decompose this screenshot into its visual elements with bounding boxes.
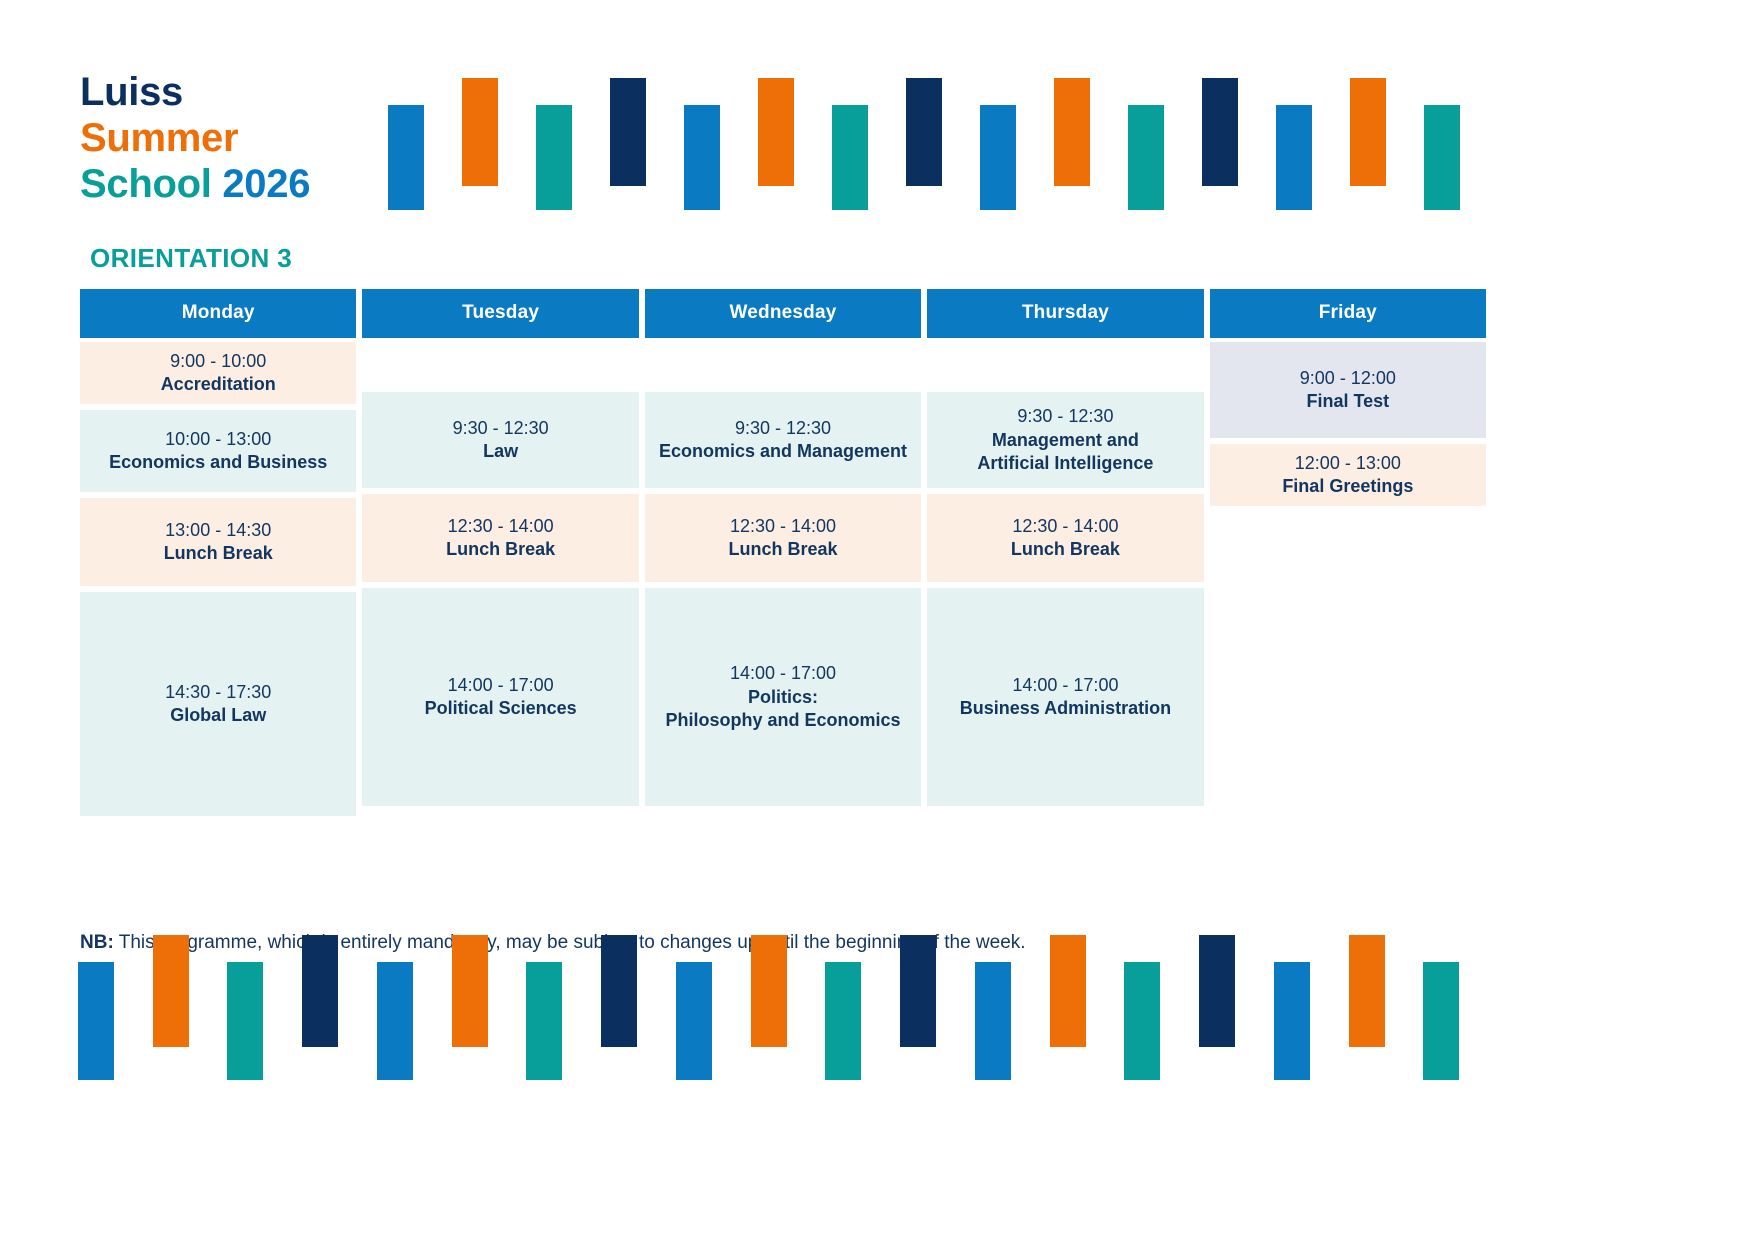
timetable-slot[interactable]: 14:00 - 17:00Political Sciences bbox=[362, 588, 638, 806]
decorative-bar bbox=[1050, 935, 1086, 1047]
day-header-thursday[interactable]: Thursday bbox=[927, 289, 1203, 338]
slot-title: Final Test bbox=[1306, 390, 1389, 413]
decorative-bar bbox=[388, 105, 424, 210]
decorative-bar bbox=[684, 105, 720, 210]
title-line-summer: Summer bbox=[80, 118, 310, 158]
timetable-slot[interactable]: 12:00 - 13:00Final Greetings bbox=[1210, 444, 1486, 506]
title-line-luiss: Luiss bbox=[80, 72, 310, 112]
slot-time: 14:00 - 17:00 bbox=[730, 661, 836, 685]
decorative-bar bbox=[601, 935, 637, 1047]
day-header-monday[interactable]: Monday bbox=[80, 289, 356, 338]
column-top-spacer bbox=[645, 342, 921, 386]
decorative-bar bbox=[1202, 78, 1238, 186]
decorative-bar bbox=[1274, 962, 1310, 1080]
slot-time: 9:30 - 12:30 bbox=[735, 416, 831, 440]
decorative-bar bbox=[153, 935, 189, 1047]
day-slots-friday: 9:00 - 12:00Final Test12:00 - 13:00Final… bbox=[1210, 342, 1486, 506]
day-column-wednesday: Wednesday9:30 - 12:30Economics and Manag… bbox=[645, 289, 921, 816]
decorative-bar bbox=[832, 105, 868, 210]
slot-title: Economics and Business bbox=[109, 451, 327, 474]
decorative-bar bbox=[1128, 105, 1164, 210]
timetable: Monday9:00 - 10:00Accreditation10:00 - 1… bbox=[80, 289, 1486, 816]
timetable-slot[interactable]: 9:30 - 12:30Law bbox=[362, 392, 638, 488]
day-column-monday: Monday9:00 - 10:00Accreditation10:00 - 1… bbox=[80, 289, 356, 816]
timetable-slot[interactable]: 14:00 - 17:00Business Administration bbox=[927, 588, 1203, 806]
day-slots-thursday: 9:30 - 12:30Management andArtificial Int… bbox=[927, 342, 1203, 806]
day-slots-monday: 9:00 - 10:00Accreditation10:00 - 13:00Ec… bbox=[80, 342, 356, 816]
decorative-bar bbox=[1350, 78, 1386, 186]
timetable-slot[interactable]: 9:30 - 12:30Management andArtificial Int… bbox=[927, 392, 1203, 488]
bottom-decorative-bars bbox=[78, 915, 1498, 1080]
slot-title: Political Sciences bbox=[425, 697, 577, 720]
day-header-tuesday[interactable]: Tuesday bbox=[362, 289, 638, 338]
slot-title-line2: Artificial Intelligence bbox=[977, 452, 1153, 475]
day-column-tuesday: Tuesday9:30 - 12:30Law12:30 - 14:00Lunch… bbox=[362, 289, 638, 816]
decorative-bar bbox=[227, 962, 263, 1080]
decorative-bar bbox=[302, 935, 338, 1047]
decorative-bar bbox=[906, 78, 942, 186]
timetable-slot[interactable]: 9:30 - 12:30Economics and Management bbox=[645, 392, 921, 488]
slot-title: Global Law bbox=[170, 704, 266, 727]
slot-time: 13:00 - 14:30 bbox=[165, 518, 271, 542]
timetable-slot[interactable]: 14:00 - 17:00Politics:Philosophy and Eco… bbox=[645, 588, 921, 806]
slot-time: 12:30 - 14:00 bbox=[1012, 514, 1118, 538]
slot-time: 12:30 - 14:00 bbox=[448, 514, 554, 538]
title-word-year: 2026 bbox=[222, 162, 310, 206]
page-title: Luiss Summer School 2026 bbox=[80, 72, 310, 210]
decorative-bar bbox=[900, 935, 936, 1047]
slot-time: 14:00 - 17:00 bbox=[1012, 673, 1118, 697]
timetable-slot[interactable]: 12:30 - 14:00Lunch Break bbox=[645, 494, 921, 582]
slot-time: 9:30 - 12:30 bbox=[1017, 404, 1113, 428]
timetable-slot[interactable]: 12:30 - 14:00Lunch Break bbox=[362, 494, 638, 582]
decorative-bar bbox=[1199, 935, 1235, 1047]
slot-title: Lunch Break bbox=[729, 538, 838, 561]
slot-time: 12:30 - 14:00 bbox=[730, 514, 836, 538]
day-column-thursday: Thursday9:30 - 12:30Management andArtifi… bbox=[927, 289, 1203, 816]
decorative-bar bbox=[377, 962, 413, 1080]
top-decorative-bars bbox=[388, 60, 1498, 220]
slot-time: 9:00 - 12:00 bbox=[1300, 366, 1396, 390]
slot-title: Lunch Break bbox=[446, 538, 555, 561]
day-slots-tuesday: 9:30 - 12:30Law12:30 - 14:00Lunch Break1… bbox=[362, 342, 638, 806]
decorative-bar bbox=[452, 935, 488, 1047]
decorative-bar bbox=[1423, 962, 1459, 1080]
slot-time: 9:30 - 12:30 bbox=[453, 416, 549, 440]
poster-page: Luiss Summer School 2026 ORIENTATION 3 M… bbox=[0, 0, 1754, 1240]
slot-time: 14:00 - 17:00 bbox=[448, 673, 554, 697]
slot-title: Lunch Break bbox=[1011, 538, 1120, 561]
timetable-slot[interactable]: 14:30 - 17:30Global Law bbox=[80, 592, 356, 816]
slot-title: Business Administration bbox=[960, 697, 1171, 720]
decorative-bar bbox=[758, 78, 794, 186]
day-header-friday[interactable]: Friday bbox=[1210, 289, 1486, 338]
slot-title: Accreditation bbox=[161, 373, 276, 396]
timetable-slot[interactable]: 12:30 - 14:00Lunch Break bbox=[927, 494, 1203, 582]
slot-title: Lunch Break bbox=[164, 542, 273, 565]
slot-title: Politics: bbox=[748, 686, 818, 709]
timetable-slot[interactable]: 10:00 - 13:00Economics and Business bbox=[80, 410, 356, 492]
timetable-slot[interactable]: 9:00 - 10:00Accreditation bbox=[80, 342, 356, 404]
column-top-spacer bbox=[927, 342, 1203, 386]
decorative-bar bbox=[78, 962, 114, 1080]
slot-title: Final Greetings bbox=[1282, 475, 1413, 498]
slot-time: 12:00 - 13:00 bbox=[1295, 451, 1401, 475]
slot-title: Law bbox=[483, 440, 518, 463]
decorative-bar bbox=[1276, 105, 1312, 210]
title-line-school-year: School 2026 bbox=[80, 164, 310, 204]
slot-title: Economics and Management bbox=[659, 440, 907, 463]
decorative-bar bbox=[462, 78, 498, 186]
decorative-bar bbox=[1124, 962, 1160, 1080]
column-top-spacer bbox=[362, 342, 638, 386]
decorative-bar bbox=[980, 105, 1016, 210]
decorative-bar bbox=[676, 962, 712, 1080]
timetable-slot[interactable]: 9:00 - 12:00Final Test bbox=[1210, 342, 1486, 438]
decorative-bar bbox=[526, 962, 562, 1080]
decorative-bar bbox=[751, 935, 787, 1047]
decorative-bar bbox=[1054, 78, 1090, 186]
day-header-wednesday[interactable]: Wednesday bbox=[645, 289, 921, 338]
decorative-bar bbox=[825, 962, 861, 1080]
slot-time: 9:00 - 10:00 bbox=[170, 349, 266, 373]
day-column-friday: Friday9:00 - 12:00Final Test12:00 - 13:0… bbox=[1210, 289, 1486, 816]
decorative-bar bbox=[1349, 935, 1385, 1047]
slot-time: 14:30 - 17:30 bbox=[165, 680, 271, 704]
orientation-label: ORIENTATION 3 bbox=[90, 243, 292, 274]
decorative-bar bbox=[975, 962, 1011, 1080]
timetable-slot[interactable]: 13:00 - 14:30Lunch Break bbox=[80, 498, 356, 586]
decorative-bar bbox=[610, 78, 646, 186]
decorative-bar bbox=[1424, 105, 1460, 210]
decorative-bar bbox=[536, 105, 572, 210]
title-word-school: School bbox=[80, 162, 222, 206]
slot-title: Management and bbox=[992, 429, 1139, 452]
slot-time: 10:00 - 13:00 bbox=[165, 427, 271, 451]
day-slots-wednesday: 9:30 - 12:30Economics and Management12:3… bbox=[645, 342, 921, 806]
slot-title-line2: Philosophy and Economics bbox=[665, 709, 900, 732]
